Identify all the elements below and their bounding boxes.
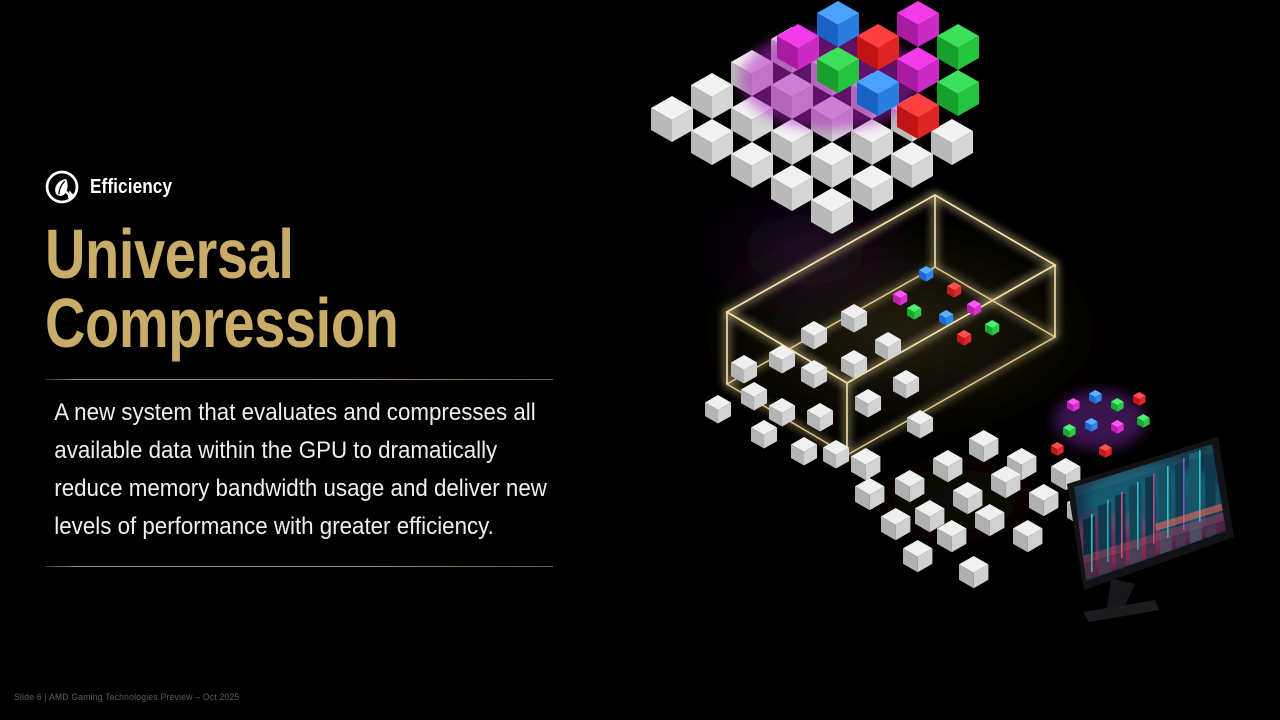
artwork-universal-compression — [555, 0, 1280, 720]
text-column: Efficiency Universal Compression A new s… — [45, 168, 565, 567]
eco-leaf-plug-icon — [45, 170, 79, 204]
eyebrow-label: Efficiency — [90, 176, 172, 199]
page-title: Universal Compression — [45, 220, 461, 357]
eyebrow-row: Efficiency — [45, 168, 565, 206]
divider-bottom — [45, 566, 553, 567]
slide-footer: Slide 6 | AMD Gaming Technologies Previe… — [14, 692, 239, 702]
body-copy: A new system that evaluates and compress… — [45, 380, 547, 548]
title-line-2: Compression — [45, 289, 461, 358]
input-colored-cube-block — [740, 1, 979, 139]
title-line-1: Universal — [45, 215, 294, 293]
slide-root: Efficiency Universal Compression A new s… — [0, 0, 1280, 720]
